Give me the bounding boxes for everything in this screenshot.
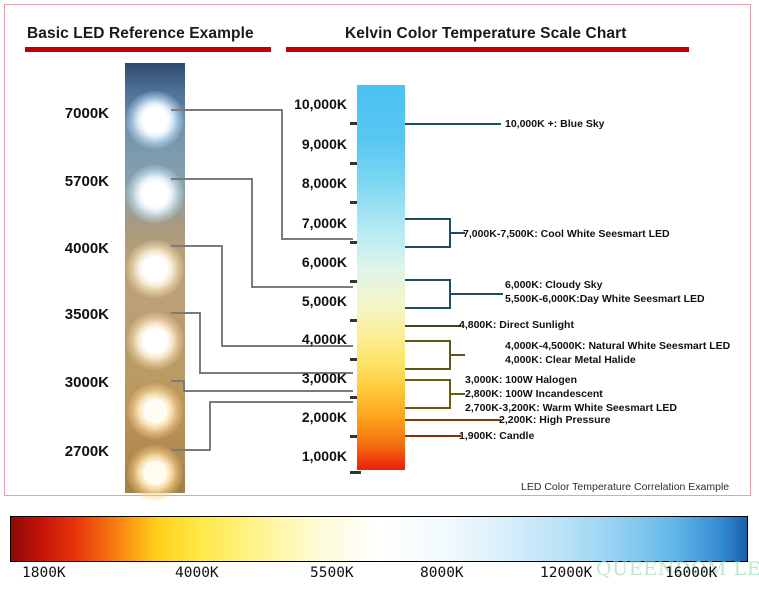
- connector-3500k-v: [199, 312, 201, 374]
- annotation-4000k-natural: 4,000K-4,5000K: Natural White Seesmart L…: [505, 340, 730, 352]
- leader-2200k: [405, 419, 501, 421]
- leader-7000k-bottom: [405, 246, 451, 248]
- right-title-underline: [286, 47, 689, 52]
- led-glow-5700k: [126, 165, 184, 223]
- led-label-5700k: 5700K: [19, 173, 109, 190]
- annotation-2700k-warm-white: 2,700K-3,200K: Warm White Seesmart LED: [465, 402, 677, 414]
- leader-4000k-top: [405, 340, 451, 342]
- connector-4000k-h1: [171, 245, 223, 247]
- connector-3500k-h1: [171, 312, 201, 314]
- led-core-3000k: [143, 399, 167, 423]
- led-core-2700k: [143, 461, 167, 485]
- kelvin-color-temperature-infographic: Basic LED Reference Example Kelvin Color…: [0, 0, 759, 590]
- led-glow-3000k: [127, 383, 183, 439]
- axis-tick-label-2000k: 2,000K: [261, 409, 347, 425]
- led-core-4000k: [142, 256, 168, 282]
- axis-tick-label-4000k: 4,000K: [261, 331, 347, 347]
- led-label-2700k: 2700K: [19, 443, 109, 460]
- connector-4000k-v: [221, 245, 223, 347]
- led-core-5700k: [142, 181, 168, 207]
- annotation-2800k-incandescent: 2,800K: 100W Incandescent: [465, 388, 603, 400]
- leader-3000k-top: [405, 379, 451, 381]
- leader-1900k: [405, 435, 461, 437]
- leader-6000k-bottom: [405, 307, 451, 309]
- axis-tick-label-1000k: 1,000K: [261, 448, 347, 464]
- leader-3000k-bottom: [405, 407, 451, 409]
- axis-tick-label-7000k: 7,000K: [261, 215, 347, 231]
- axis-tick-label-5000k: 5,000K: [261, 293, 347, 309]
- led-core-7000k: [142, 107, 168, 133]
- strip-label-4000k: 4000K: [175, 565, 219, 581]
- panel-caption: LED Color Temperature Correlation Exampl…: [521, 481, 729, 493]
- connector-5700k-h2: [251, 286, 353, 288]
- right-panel-title: Kelvin Color Temperature Scale Chart: [345, 25, 627, 43]
- connector-5700k-v: [251, 178, 253, 288]
- strip-label-5500k: 5500K: [310, 565, 354, 581]
- annotation-6000k: 6,000K: Cloudy Sky: [505, 279, 602, 291]
- leader-7000k-top: [405, 218, 451, 220]
- led-label-3500k: 3500K: [19, 306, 109, 323]
- kelvin-gradient-bar: [357, 85, 405, 470]
- led-label-3000k: 3000K: [19, 374, 109, 391]
- annotation-5500k: 5,500K-6,000K:Day White Seesmart LED: [505, 293, 705, 305]
- left-panel-title: Basic LED Reference Example: [27, 25, 254, 43]
- left-title-underline: [25, 47, 271, 52]
- connector-3000k-h2: [183, 390, 353, 392]
- connector-2700k-h1: [171, 449, 211, 451]
- annotation-2200k: 2,200K: High Pressure: [499, 414, 610, 426]
- led-strip-image: [125, 63, 185, 493]
- axis-tick-label-6000k: 6,000K: [261, 254, 347, 270]
- kelvin-spectrum-strip: [10, 516, 748, 562]
- axis-tick-1000k: [350, 471, 361, 474]
- leader-6000k-stem: [449, 293, 503, 295]
- leader-4000k-stem: [449, 354, 465, 356]
- chart-panel: Basic LED Reference Example Kelvin Color…: [4, 4, 751, 496]
- connector-5700k-h1: [171, 178, 253, 180]
- annotation-1900k: 1,900K: Candle: [459, 430, 534, 442]
- annotation-4800k: 4,800K: Direct Sunlight: [459, 319, 574, 331]
- axis-tick-label-9000k: 9,000K: [261, 136, 347, 152]
- led-glow-7000k: [126, 91, 184, 149]
- connector-2700k-h2: [209, 401, 353, 403]
- axis-tick-label-8000k: 8,000K: [261, 175, 347, 191]
- annotation-7000k: 7,000K-7,500K: Cool White Seesmart LED: [463, 228, 670, 240]
- leader-4800k: [405, 325, 461, 327]
- connector-2700k-v: [209, 401, 211, 451]
- led-glow-2700k: [127, 445, 183, 501]
- connector-7000k-h2: [281, 238, 353, 240]
- annotation-3000k-halogen: 3,000K: 100W Halogen: [465, 374, 577, 386]
- led-glow-4000k: [126, 240, 184, 298]
- led-label-4000k: 4000K: [19, 240, 109, 257]
- led-glow-3500k: [126, 312, 184, 370]
- leader-6000k-top: [405, 279, 451, 281]
- leader-4000k-bottom: [405, 368, 451, 370]
- leader-3000k-stem: [449, 393, 465, 395]
- annotation-10000k: 10,000K +: Blue Sky: [505, 118, 605, 130]
- strip-label-12000k: 12000K: [540, 565, 592, 581]
- led-label-7000k: 7000K: [19, 105, 109, 122]
- led-core-3500k: [142, 328, 168, 354]
- axis-tick-label-3000k: 3,000K: [261, 370, 347, 386]
- strip-label-8000k: 8000K: [420, 565, 464, 581]
- leader-10000k: [405, 123, 501, 125]
- strip-label-16000k: 16000K: [665, 565, 717, 581]
- strip-label-1800k: 1800K: [22, 565, 66, 581]
- annotation-4000k-halide: 4,000K: Clear Metal Halide: [505, 354, 636, 366]
- axis-tick-label-10000k: 10,000K: [261, 96, 347, 112]
